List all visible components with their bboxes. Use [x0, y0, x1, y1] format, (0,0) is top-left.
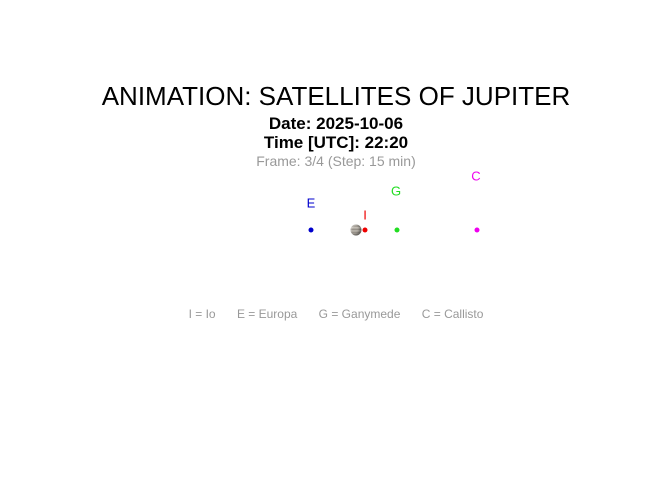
- moon-label-io: I: [363, 209, 367, 222]
- legend: I = Io E = Europa G = Ganymede C = Calli…: [0, 307, 672, 321]
- jupiter-disk: [351, 225, 362, 236]
- legend-entry-callisto: C = Callisto: [422, 307, 484, 321]
- animation-canvas: ANIMATION: SATELLITES OF JUPITER Date: 2…: [0, 0, 672, 480]
- moon-dot-ganymede: [395, 228, 400, 233]
- moon-dot-europa: [309, 228, 314, 233]
- legend-entry-ganymede: G = Ganymede: [319, 307, 401, 321]
- moon-label-ganymede: G: [391, 185, 401, 198]
- legend-entry-europa: E = Europa: [237, 307, 297, 321]
- moon-label-europa: E: [307, 197, 316, 210]
- moon-dot-callisto: [475, 228, 480, 233]
- moon-dot-io: [363, 228, 368, 233]
- sky-plot: EIGC: [0, 0, 672, 480]
- legend-entry-io: I = Io: [189, 307, 216, 321]
- moon-label-callisto: C: [471, 170, 480, 183]
